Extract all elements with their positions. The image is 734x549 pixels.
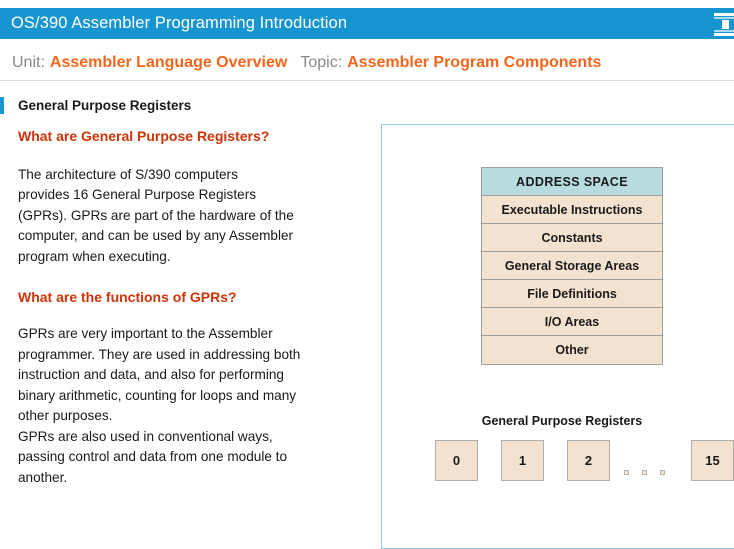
gpr-ellipsis [624,470,665,475]
ellipsis-dot [642,470,647,475]
table-row: I/O Areas [482,308,662,336]
question-heading-1: What are General Purpose Registers? [18,128,368,145]
topic-label: Topic: [300,54,342,72]
gpr-register-row: 0 1 2 15 [430,440,734,484]
breadcrumb: Unit: Assembler Language Overview Topic:… [0,50,734,76]
gpr-diagram-title: General Purpose Registers [382,414,734,428]
table-row: File Definitions [482,280,662,308]
ellipsis-dot [624,470,629,475]
unit-value[interactable]: Assembler Language Overview [50,54,287,72]
gpr-box-2: 2 [567,440,610,481]
topic-value[interactable]: Assembler Program Components [347,54,601,72]
table-row: Other [482,336,662,364]
gpr-box-0: 0 [435,440,478,481]
accent-bar [0,97,4,114]
page-title: General Purpose Registers [0,96,191,114]
app-title: OS/390 Assembler Programming Introductio… [0,14,347,33]
table-row: Executable Instructions [482,196,662,224]
column-pillar-icon[interactable] [710,8,734,39]
table-row: General Storage Areas [482,252,662,280]
unit-label: Unit: [12,54,45,72]
gpr-box-15: 15 [691,440,734,481]
gpr-box-1: 1 [501,440,544,481]
content-column: What are General Purpose Registers? The … [18,128,368,488]
header-divider [0,80,734,81]
paragraph-2: GPRs are very important to the Assembler… [18,324,368,488]
diagram-panel: ADDRESS SPACE Executable Instructions Co… [381,124,734,549]
ellipsis-dot [660,470,665,475]
address-space-header: ADDRESS SPACE [482,168,662,196]
table-row: Constants [482,224,662,252]
paragraph-1: The architecture of S/390 computers prov… [18,165,368,268]
address-space-table: ADDRESS SPACE Executable Instructions Co… [481,167,663,365]
section-title: General Purpose Registers [18,98,191,113]
app-header: OS/390 Assembler Programming Introductio… [0,8,734,39]
question-heading-2: What are the functions of GPRs? [18,289,368,306]
